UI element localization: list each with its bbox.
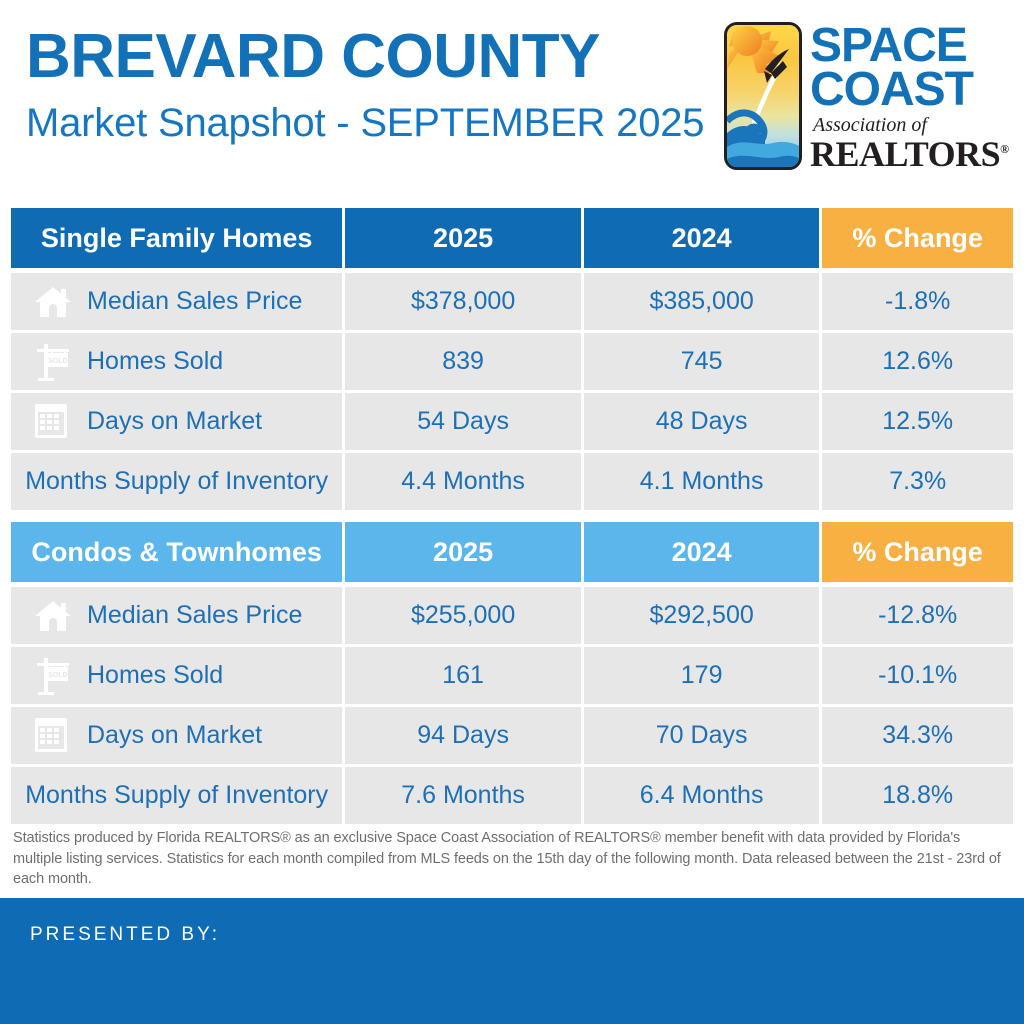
row-label: Median Sales Price xyxy=(87,287,302,316)
table-single-family-homes: Single Family Homes 2025 2024 % Change M… xyxy=(11,208,1013,513)
house-icon xyxy=(33,596,73,636)
sold-sign-icon: SOLD xyxy=(33,656,73,696)
header-category: Single Family Homes xyxy=(11,208,342,268)
table-row: Days on Market 54 Days 48 Days 12.5% xyxy=(11,393,1013,450)
space-coast-sun-rocket-wave-badge-icon xyxy=(724,22,802,170)
row-label: Days on Market xyxy=(87,721,262,750)
header-col-2024: 2024 xyxy=(584,208,820,268)
logo-line-coast: COAST xyxy=(810,68,1006,112)
cell-pct-change: 12.5% xyxy=(822,393,1013,450)
page-header: BREVARD COUNTY Market Snapshot - SEPTEMB… xyxy=(0,0,1024,190)
cell-pct-change: 7.3% xyxy=(822,453,1013,510)
table-condos-townhomes: Condos & Townhomes 2025 2024 % Change Me… xyxy=(11,522,1013,827)
row-label-cell: Median Sales Price xyxy=(11,273,342,330)
svg-text:SOLD: SOLD xyxy=(48,672,67,679)
cell-pct-change: -1.8% xyxy=(822,273,1013,330)
house-icon xyxy=(33,282,73,322)
disclaimer-text: Statistics produced by Florida REALTORS®… xyxy=(13,828,1013,890)
header-category-label: Single Family Homes xyxy=(41,223,313,254)
market-snapshot-infographic: BREVARD COUNTY Market Snapshot - SEPTEMB… xyxy=(0,0,1024,1024)
header-col-pct-change: % Change xyxy=(822,208,1013,268)
table-row: Median Sales Price $255,000 $292,500 -12… xyxy=(11,587,1013,644)
cell-pct-change: 18.8% xyxy=(822,767,1013,824)
cell-2025: $255,000 xyxy=(345,587,581,644)
registered-trademark-icon: ® xyxy=(1000,142,1008,156)
cell-2024: 70 Days xyxy=(584,707,820,764)
space-coast-association-of-realtors-logo: SPACE COAST Association of REALTORS® xyxy=(718,18,1006,178)
header-col-2024: 2024 xyxy=(584,522,820,582)
cell-pct-change: 34.3% xyxy=(822,707,1013,764)
table-header-row: Single Family Homes 2025 2024 % Change xyxy=(11,208,1013,268)
cell-2025: 839 xyxy=(345,333,581,390)
calendar-icon xyxy=(33,402,73,442)
logo-line-space: SPACE xyxy=(810,24,1006,68)
cell-2024: 48 Days xyxy=(584,393,820,450)
row-label: Months Supply of Inventory xyxy=(25,467,328,496)
table-row: SOLD Homes Sold 839 745 12.6% xyxy=(11,333,1013,390)
row-label: Days on Market xyxy=(87,407,262,436)
cell-pct-change: -12.8% xyxy=(822,587,1013,644)
cell-pct-change: -10.1% xyxy=(822,647,1013,704)
page-title: BREVARD COUNTY xyxy=(26,24,716,89)
cell-2025: $378,000 xyxy=(345,273,581,330)
title-block: BREVARD COUNTY Market Snapshot - SEPTEMB… xyxy=(26,24,716,146)
cell-2024: 179 xyxy=(584,647,820,704)
header-col-2025: 2025 xyxy=(345,208,581,268)
cell-pct-change: 12.6% xyxy=(822,333,1013,390)
row-label: Homes Sold xyxy=(87,661,223,690)
table-row: SOLD Homes Sold 161 179 -10.1% xyxy=(11,647,1013,704)
cell-2024: 6.4 Months xyxy=(584,767,820,824)
table-header-row: Condos & Townhomes 2025 2024 % Change xyxy=(11,522,1013,582)
row-label-cell: SOLD Homes Sold xyxy=(11,333,342,390)
logo-realtors-text: REALTORS xyxy=(810,134,1000,174)
cell-2025: 4.4 Months xyxy=(345,453,581,510)
header-category-label: Condos & Townhomes xyxy=(31,537,322,568)
cell-2024: $385,000 xyxy=(584,273,820,330)
row-label-cell: Days on Market xyxy=(11,393,342,450)
row-label-cell: Months Supply of Inventory xyxy=(11,453,342,510)
row-label: Median Sales Price xyxy=(87,601,302,630)
row-label-cell: SOLD Homes Sold xyxy=(11,647,342,704)
sold-sign-icon: SOLD xyxy=(33,342,73,382)
row-label-cell: Months Supply of Inventory xyxy=(11,767,342,824)
cell-2025: 161 xyxy=(345,647,581,704)
cell-2025: 54 Days xyxy=(345,393,581,450)
header-col-2025: 2025 xyxy=(345,522,581,582)
header-col-pct-change: % Change xyxy=(822,522,1013,582)
table-row: Median Sales Price $378,000 $385,000 -1.… xyxy=(11,273,1013,330)
cell-2024: 4.1 Months xyxy=(584,453,820,510)
logo-realtors: REALTORS® xyxy=(810,136,1006,172)
cell-2024: $292,500 xyxy=(584,587,820,644)
row-label: Homes Sold xyxy=(87,347,223,376)
table-row: Months Supply of Inventory 4.4 Months 4.… xyxy=(11,453,1013,510)
cell-2025: 94 Days xyxy=(345,707,581,764)
calendar-icon xyxy=(33,716,73,756)
header-category: Condos & Townhomes xyxy=(11,522,342,582)
table-row: Months Supply of Inventory 7.6 Months 6.… xyxy=(11,767,1013,824)
cell-2024: 745 xyxy=(584,333,820,390)
page-subtitle: Market Snapshot - SEPTEMBER 2025 xyxy=(26,101,716,146)
cell-2025: 7.6 Months xyxy=(345,767,581,824)
presented-by-label: PRESENTED BY: xyxy=(30,924,220,946)
logo-association-of: Association of xyxy=(813,114,1006,136)
row-label: Months Supply of Inventory xyxy=(25,781,328,810)
row-label-cell: Median Sales Price xyxy=(11,587,342,644)
svg-text:SOLD: SOLD xyxy=(48,358,67,365)
row-label-cell: Days on Market xyxy=(11,707,342,764)
logo-wordmark: SPACE COAST Association of REALTORS® xyxy=(810,18,1006,172)
table-row: Days on Market 94 Days 70 Days 34.3% xyxy=(11,707,1013,764)
footer-presented-by-band: PRESENTED BY: xyxy=(0,898,1024,1024)
